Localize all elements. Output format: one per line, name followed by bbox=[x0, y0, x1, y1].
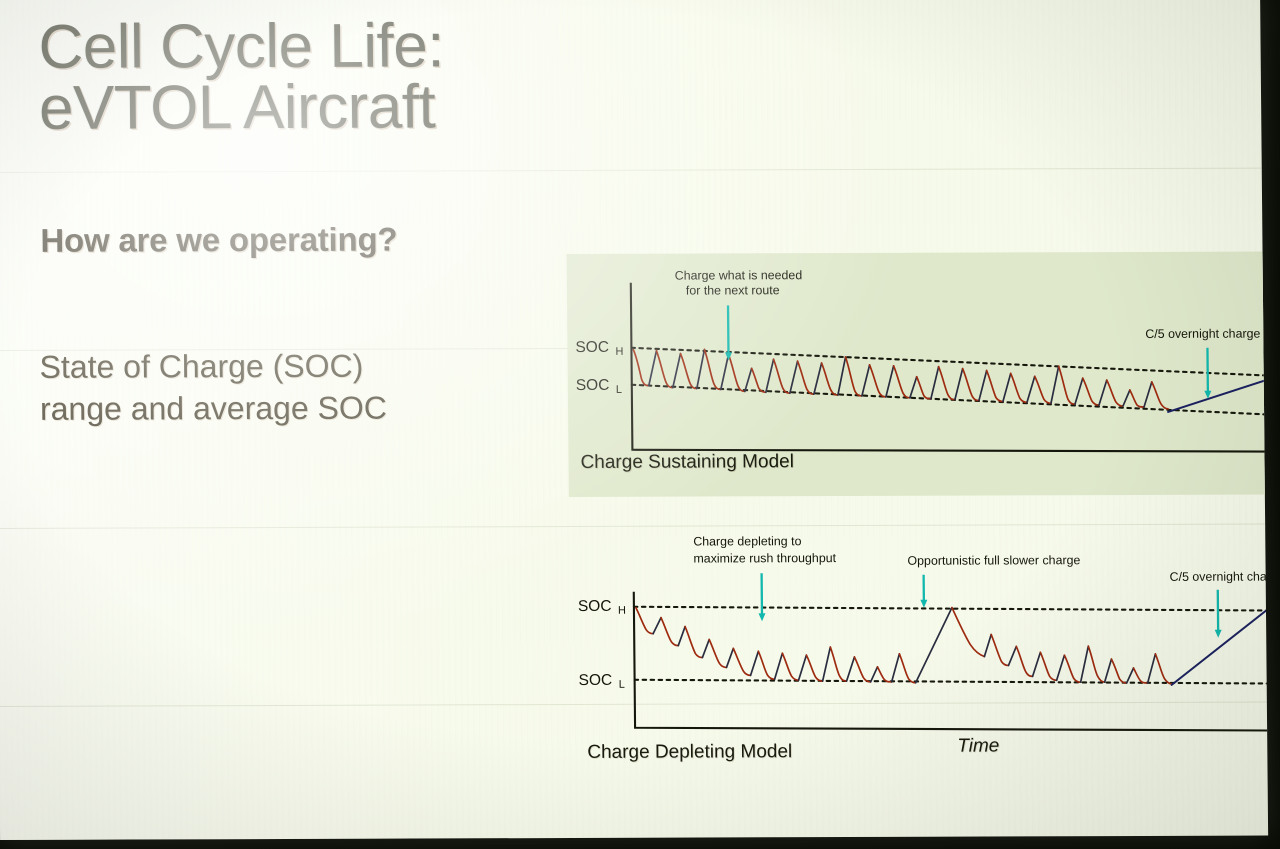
title-line-2: eVTOL Aircraft bbox=[39, 76, 660, 139]
chart1-soc-trace bbox=[633, 348, 1168, 411]
chart1-annotation-2-line-1: C/5 overnight charge bbox=[1145, 327, 1260, 341]
chart2-annotation-1-line-1: Charge depleting to bbox=[693, 534, 801, 548]
chart1-overnight-charge-ramp bbox=[1168, 380, 1268, 412]
photo-of-projected-slide: Cell Cycle Life: eVTOL Aircraft How are … bbox=[0, 0, 1280, 849]
chart2-annotation-2-arrowhead bbox=[920, 600, 927, 608]
chart2-soc-low-label: SOC bbox=[579, 672, 613, 689]
chart1-soc-high-subscript: H bbox=[615, 346, 623, 358]
chart2-overnight-charge-ramp bbox=[1171, 608, 1268, 685]
slide-body-text: State of Charge (SOC) range and average … bbox=[39, 344, 510, 430]
slide-subtitle: How are we operating? bbox=[40, 221, 397, 260]
chart-charge-depleting-model: SOC H SOC L bbox=[569, 528, 1268, 776]
chart2-soc-high-label: SOC bbox=[578, 598, 612, 615]
chart2-caption: Charge Depleting Model bbox=[587, 741, 792, 764]
chart2-x-axis-label: Time bbox=[957, 735, 999, 757]
chart2-annotation-3-line-1: C/5 overnight charge bbox=[1170, 569, 1269, 583]
chart2-annotation-2-line-1: Opportunistic full slower charge bbox=[907, 553, 1080, 568]
screen-seam bbox=[0, 168, 1262, 173]
title-line-1: Cell Cycle Life: bbox=[38, 16, 659, 79]
chart1-soc-low-subscript: L bbox=[616, 384, 622, 396]
chart1-soc-high-label: SOC bbox=[575, 339, 609, 356]
chart2-annotation-1-arrowhead bbox=[758, 613, 765, 621]
slide-canvas: Cell Cycle Life: eVTOL Aircraft How are … bbox=[0, 0, 1268, 840]
chart1-annotation-1-line-1: Charge what is needed bbox=[675, 268, 803, 282]
chart1-annotation-1-line-2: for the next route bbox=[686, 283, 780, 297]
chart1-caption: Charge Sustaining Model bbox=[580, 451, 794, 474]
body-line-1: State of Charge (SOC) bbox=[39, 344, 509, 388]
chart1-soc-low-line bbox=[632, 383, 1268, 417]
chart2-soc-trace bbox=[636, 606, 1172, 686]
page-title: Cell Cycle Life: eVTOL Aircraft bbox=[38, 16, 659, 140]
projection-screen: Cell Cycle Life: eVTOL Aircraft How are … bbox=[0, 0, 1268, 840]
chart1-soc-low-label: SOC bbox=[576, 377, 610, 394]
chart2-annotation-1-line-2: maximize rush throughput bbox=[693, 551, 836, 565]
body-line-2: range and average SOC bbox=[40, 386, 510, 430]
chart2-svg: SOC H SOC L bbox=[569, 528, 1268, 776]
chart2-soc-high-subscript: H bbox=[618, 605, 626, 617]
chart2-annotation-3-arrowhead bbox=[1215, 630, 1222, 638]
chart2-soc-low-subscript: L bbox=[619, 679, 625, 691]
